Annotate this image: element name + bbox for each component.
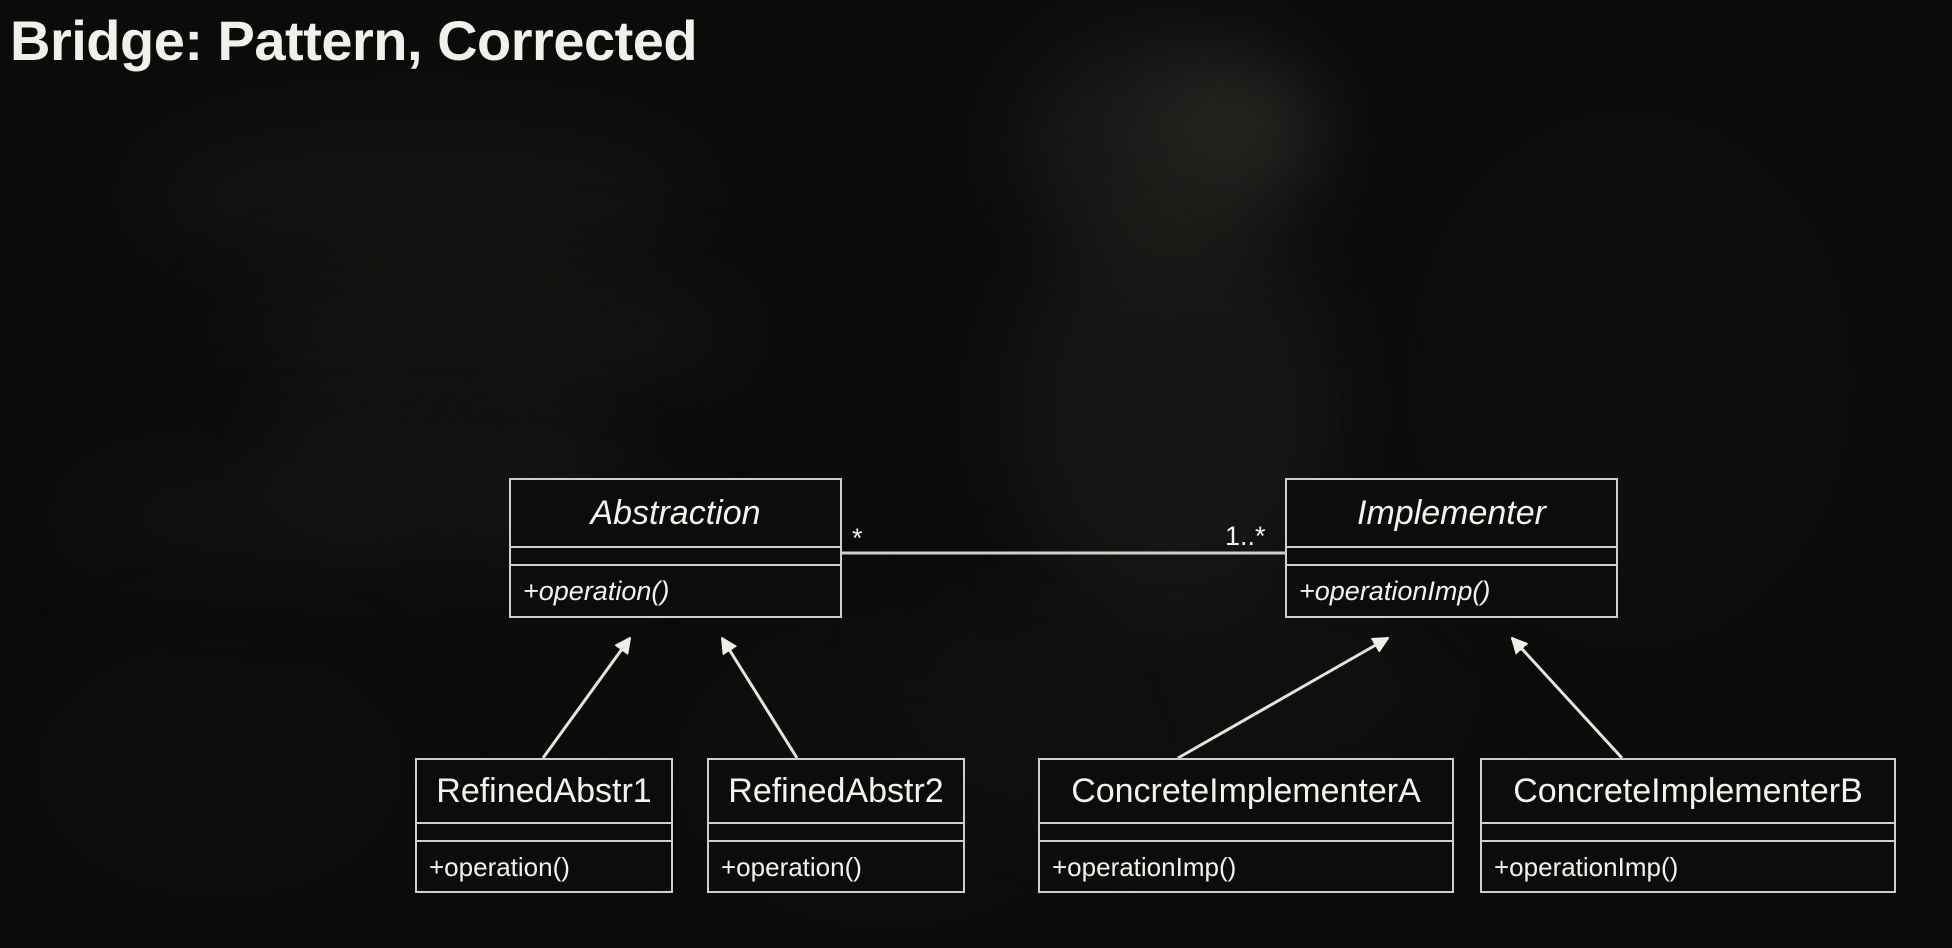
slide-canvas: Bridge: Pattern, Corrected Abstraction xyxy=(0,0,1952,948)
attributes-compartment-implementer xyxy=(1287,546,1616,564)
operation-refined-abstr-2-0: +operation() xyxy=(721,852,862,882)
multiplicity-target: 1..* xyxy=(1225,523,1266,550)
multiplicity-source: * xyxy=(852,525,863,552)
class-name-implementer: Implementer xyxy=(1287,480,1616,546)
uml-class-concrete-implementer-a[interactable]: ConcreteImplementerA +operationImp() xyxy=(1038,758,1454,893)
operations-compartment-abstraction: +operation() xyxy=(511,564,840,614)
attributes-compartment-concrete-implementer-b xyxy=(1482,822,1894,840)
operations-compartment-refined-abstr-2: +operation() xyxy=(709,840,963,890)
operation-concrete-implementer-b-0: +operationImp() xyxy=(1494,852,1678,882)
uml-class-refined-abstr-1[interactable]: RefinedAbstr1 +operation() xyxy=(415,758,673,893)
uml-class-abstraction[interactable]: Abstraction +operation() xyxy=(509,478,842,618)
operation-concrete-implementer-a-0: +operationImp() xyxy=(1052,852,1236,882)
uml-class-implementer[interactable]: Implementer +operationImp() xyxy=(1285,478,1618,618)
attributes-compartment-abstraction xyxy=(511,546,840,564)
attributes-compartment-refined-abstr-1 xyxy=(417,822,671,840)
operations-compartment-refined-abstr-1: +operation() xyxy=(417,840,671,890)
operations-compartment-concrete-implementer-a: +operationImp() xyxy=(1040,840,1452,890)
operation-abstraction-0: +operation() xyxy=(523,576,669,606)
class-name-concrete-implementer-b: ConcreteImplementerB xyxy=(1482,760,1894,822)
operation-refined-abstr-1-0: +operation() xyxy=(429,852,570,882)
uml-class-refined-abstr-2[interactable]: RefinedAbstr2 +operation() xyxy=(707,758,965,893)
operations-compartment-implementer: +operationImp() xyxy=(1287,564,1616,614)
operations-compartment-concrete-implementer-b: +operationImp() xyxy=(1482,840,1894,890)
uml-class-diagram: Abstraction +operation() Implementer +op… xyxy=(0,0,1952,948)
generalization-refinedabstr2 xyxy=(722,638,797,758)
class-name-abstraction: Abstraction xyxy=(511,480,840,546)
attributes-compartment-refined-abstr-2 xyxy=(709,822,963,840)
class-name-refined-abstr-2: RefinedAbstr2 xyxy=(709,760,963,822)
class-name-refined-abstr-1: RefinedAbstr1 xyxy=(417,760,671,822)
class-name-concrete-implementer-a: ConcreteImplementerA xyxy=(1040,760,1452,822)
operation-implementer-0: +operationImp() xyxy=(1299,576,1490,606)
generalization-concreteimplementera xyxy=(1178,638,1388,758)
attributes-compartment-concrete-implementer-a xyxy=(1040,822,1452,840)
generalization-concreteimplementerb xyxy=(1512,638,1622,758)
uml-class-concrete-implementer-b[interactable]: ConcreteImplementerB +operationImp() xyxy=(1480,758,1896,893)
generalization-refinedabstr1 xyxy=(543,638,630,758)
